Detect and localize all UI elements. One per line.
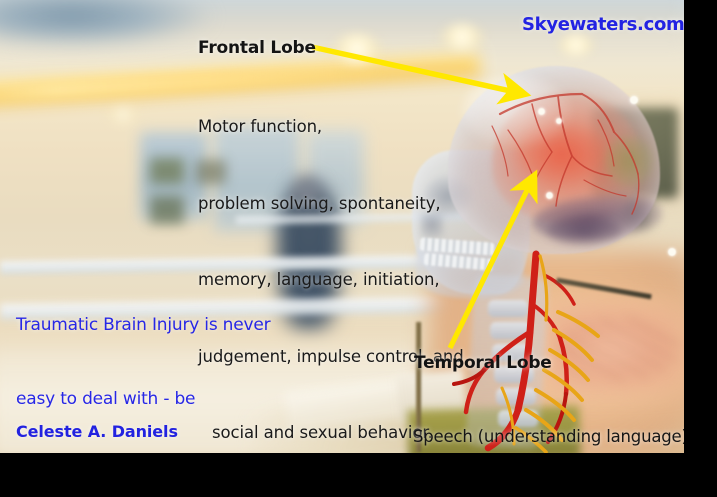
frontal-line-1: Motor function, [198,114,464,140]
frontal-line-2: problem solving, spontaneity, [198,191,464,217]
site-watermark: Skyewaters.com [522,14,684,35]
frontal-lobe-heading: Frontal Lobe [198,38,316,58]
photograph: Skyewaters.com Frontal Lobe Motor functi… [0,0,684,453]
quote-attribution: Celeste A. Daniels [16,422,178,441]
temporal-lobe-heading: Temporal Lobe [414,353,552,373]
quote-line-2: easy to deal with - be [16,387,310,412]
screenshot-canvas: Skyewaters.com Frontal Lobe Motor functi… [0,0,717,497]
temporal-line-1: Speech (understanding language) [413,425,684,449]
quote-line-1: Traumatic Brain Injury is never [16,313,310,338]
temporal-lobe-description: Speech (understanding language) memory, … [413,377,684,453]
